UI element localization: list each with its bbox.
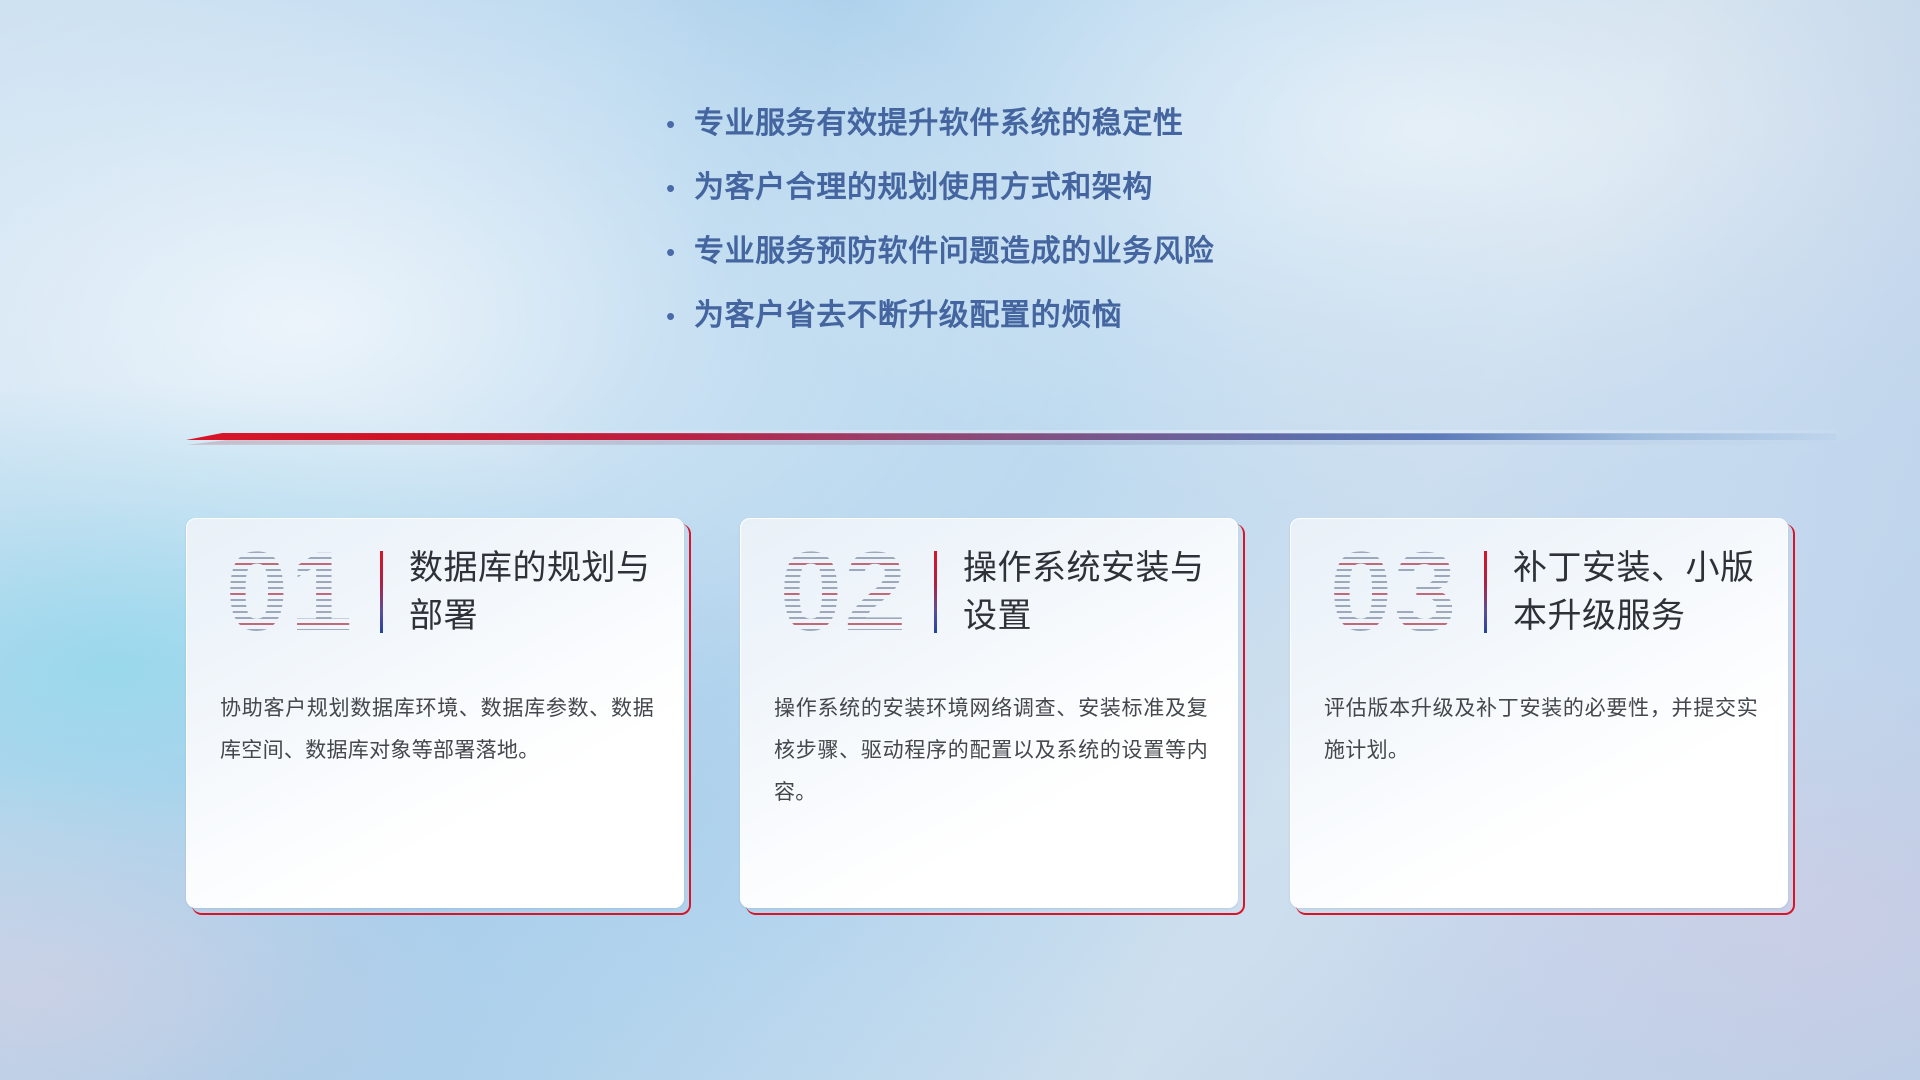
card-number-watermark: 02 02 (764, 533, 924, 651)
card-body-text: 协助客户规划数据库环境、数据库参数、数据库空间、数据库对象等部署落地。 (186, 666, 684, 772)
divider-line (186, 433, 1836, 440)
card-header: 02 02 操作系统安装与设置 (740, 518, 1238, 666)
card-accent-bar (380, 551, 383, 633)
bullet-marker-icon: • (660, 104, 694, 144)
divider-highlight (186, 430, 1836, 434)
card-number-watermark-accent: 03 (1314, 533, 1474, 651)
card-body-text: 操作系统的安装环境网络调查、安装标准及复核步骤、驱动程序的配置以及系统的设置等内… (740, 666, 1238, 814)
card-number-watermark-accent: 01 (210, 533, 370, 651)
card-accent-bar (934, 551, 937, 633)
card-title: 数据库的规划与部署 (409, 544, 659, 640)
bullet-text: 为客户合理的规划使用方式和架构 (694, 168, 1153, 208)
card-accent-bar (1484, 551, 1487, 633)
bullet-marker-icon: • (660, 296, 694, 336)
bullet-marker-icon: • (660, 168, 694, 208)
card-number-watermark: 03 03 (1314, 533, 1474, 651)
divider-shadow (186, 440, 1836, 445)
benefit-bullet-list: • 专业服务有效提升软件系统的稳定性 • 为客户合理的规划使用方式和架构 • 专… (660, 104, 1420, 360)
bullet-item: • 专业服务有效提升软件系统的稳定性 (660, 104, 1420, 168)
card-body-text: 评估版本升级及补丁安装的必要性，并提交实施计划。 (1290, 666, 1788, 772)
bullet-text: 为客户省去不断升级配置的烦恼 (694, 296, 1122, 336)
card-title: 补丁安装、小版本升级服务 (1513, 544, 1763, 640)
card-title: 操作系统安装与设置 (963, 544, 1213, 640)
service-card-02[interactable]: 02 02 操作系统安装与设置 操作系统的安装环境网络调查、安装标准及复核步骤、… (740, 518, 1238, 908)
card-header: 03 03 补丁安装、小版本升级服务 (1290, 518, 1788, 666)
bullet-item: • 专业服务预防软件问题造成的业务风险 (660, 232, 1420, 296)
service-card-03[interactable]: 03 03 补丁安装、小版本升级服务 评估版本升级及补丁安装的必要性，并提交实施… (1290, 518, 1788, 908)
card-number-watermark-accent: 02 (764, 533, 924, 651)
bullet-item: • 为客户省去不断升级配置的烦恼 (660, 296, 1420, 360)
bullet-marker-icon: • (660, 232, 694, 272)
bullet-text: 专业服务预防软件问题造成的业务风险 (694, 232, 1214, 272)
service-card-01[interactable]: 01 01 数据库的规划与部署 协助客户规划数据库环境、数据库参数、数据库空间、… (186, 518, 684, 908)
bullet-text: 专业服务有效提升软件系统的稳定性 (694, 104, 1184, 144)
service-card-row: 01 01 数据库的规划与部署 协助客户规划数据库环境、数据库参数、数据库空间、… (0, 518, 1920, 938)
card-number-watermark: 01 01 (210, 533, 370, 651)
slide-root: • 专业服务有效提升软件系统的稳定性 • 为客户合理的规划使用方式和架构 • 专… (0, 0, 1920, 1080)
card-header: 01 01 数据库的规划与部署 (186, 518, 684, 666)
section-divider (186, 424, 1836, 450)
bullet-item: • 为客户合理的规划使用方式和架构 (660, 168, 1420, 232)
